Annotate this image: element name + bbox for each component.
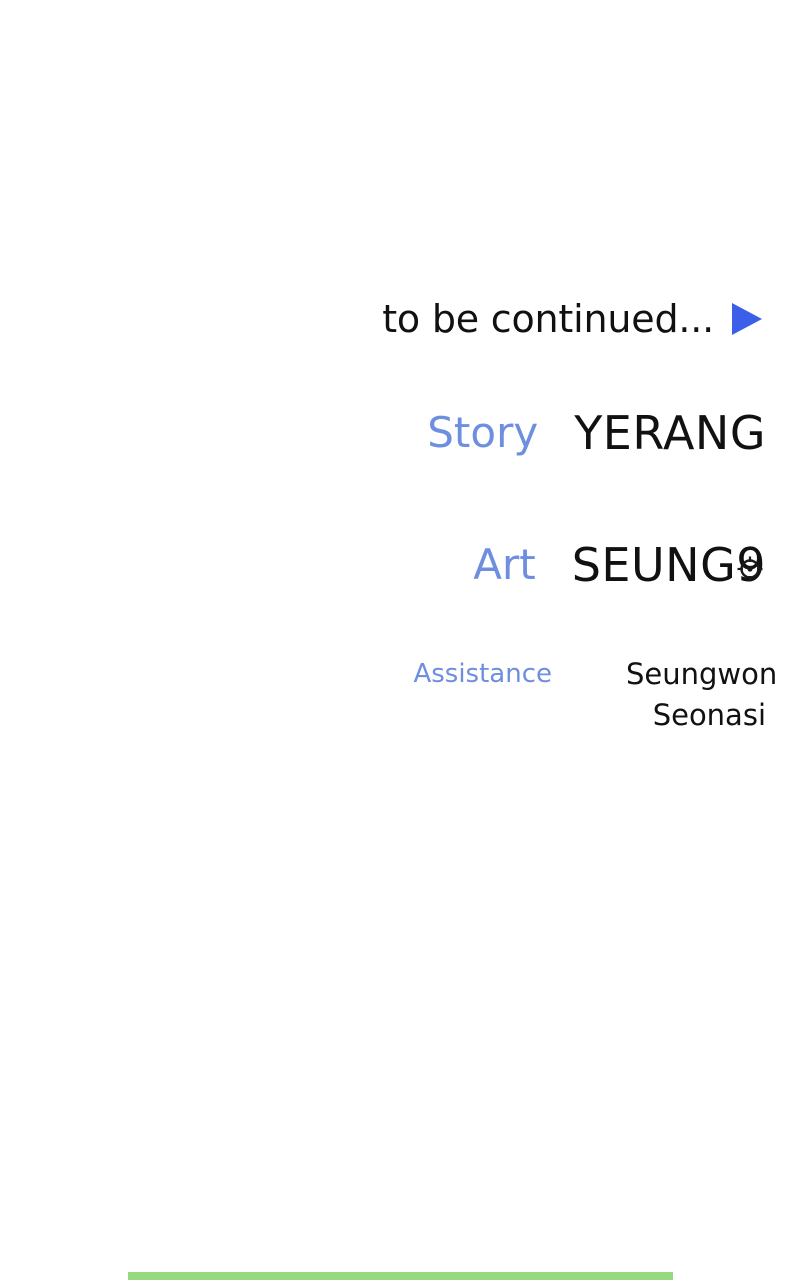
credit-value-art: SEUNG9 bbox=[572, 540, 766, 590]
credit-value-assistance: Seungwon Seonasi bbox=[626, 654, 766, 736]
credit-row-art: Art SEUNG9 bbox=[0, 540, 766, 654]
credit-row-assistance: Assistance Seungwon Seonasi bbox=[0, 654, 766, 736]
to-be-continued-text: to be continued... bbox=[382, 296, 714, 342]
play-triangle-icon[interactable] bbox=[726, 299, 766, 339]
end-card-screen: to be continued... Story YERANG Art SEUN… bbox=[0, 0, 800, 1280]
credit-label-assistance: Assistance bbox=[413, 654, 552, 695]
credit-row-story: Story YERANG bbox=[0, 408, 766, 540]
credits-block: Story YERANG Art SEUNG9 Assistance Seung… bbox=[0, 408, 766, 736]
credit-value-story: YERANG bbox=[574, 408, 766, 458]
credit-value-assistance-line-1: Seungwon bbox=[626, 654, 766, 695]
credit-value-assistance-line-2: Seonasi bbox=[626, 695, 766, 736]
credit-label-story: Story bbox=[427, 408, 538, 458]
to-be-continued-row: to be continued... bbox=[0, 296, 766, 342]
credit-label-art: Art bbox=[473, 540, 535, 590]
bottom-progress-bar[interactable] bbox=[128, 1272, 673, 1280]
